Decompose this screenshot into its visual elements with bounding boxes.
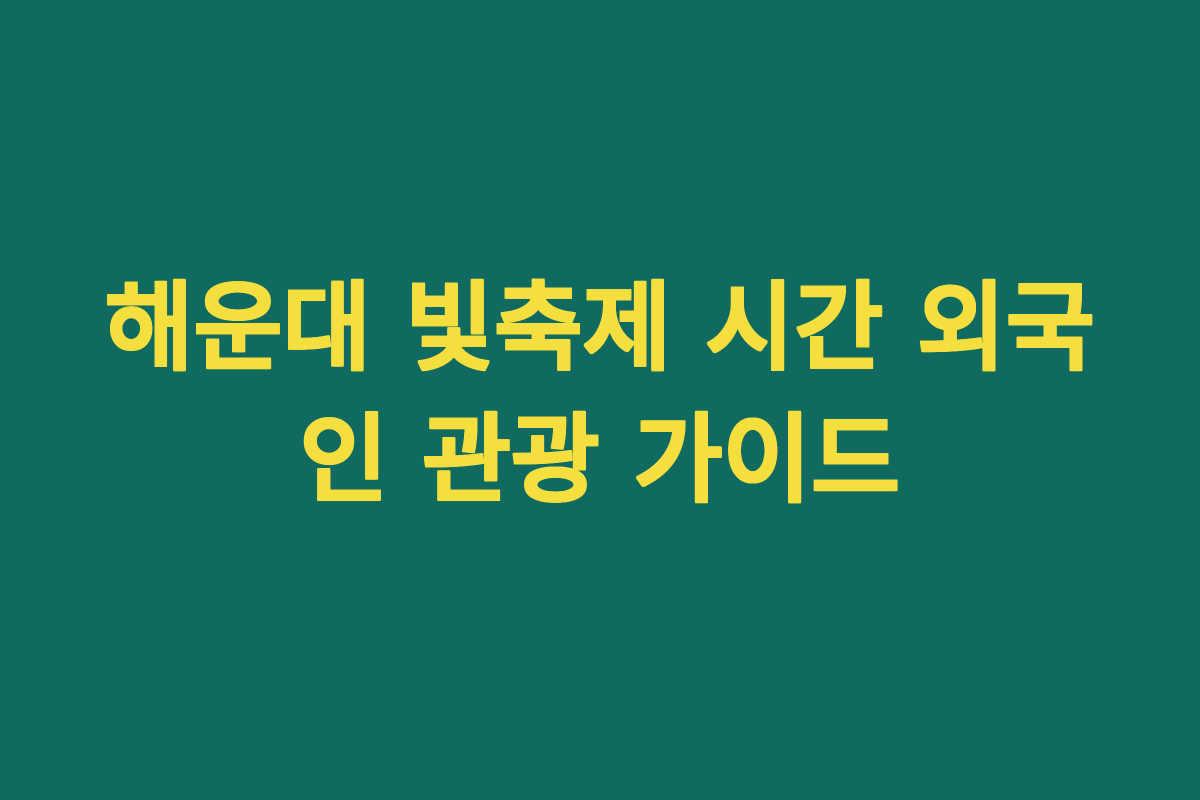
page-title-line-2: 인 관광 가이드	[70, 394, 1130, 526]
page-title: 해운대 빛축제 시간 외국 인 관광 가이드	[70, 262, 1130, 527]
page-title-line-1: 해운대 빛축제 시간 외국	[70, 262, 1130, 394]
headline-block: 해운대 빛축제 시간 외국 인 관광 가이드	[70, 262, 1130, 527]
title-card: 해운대 빛축제 시간 외국 인 관광 가이드	[0, 0, 1200, 800]
